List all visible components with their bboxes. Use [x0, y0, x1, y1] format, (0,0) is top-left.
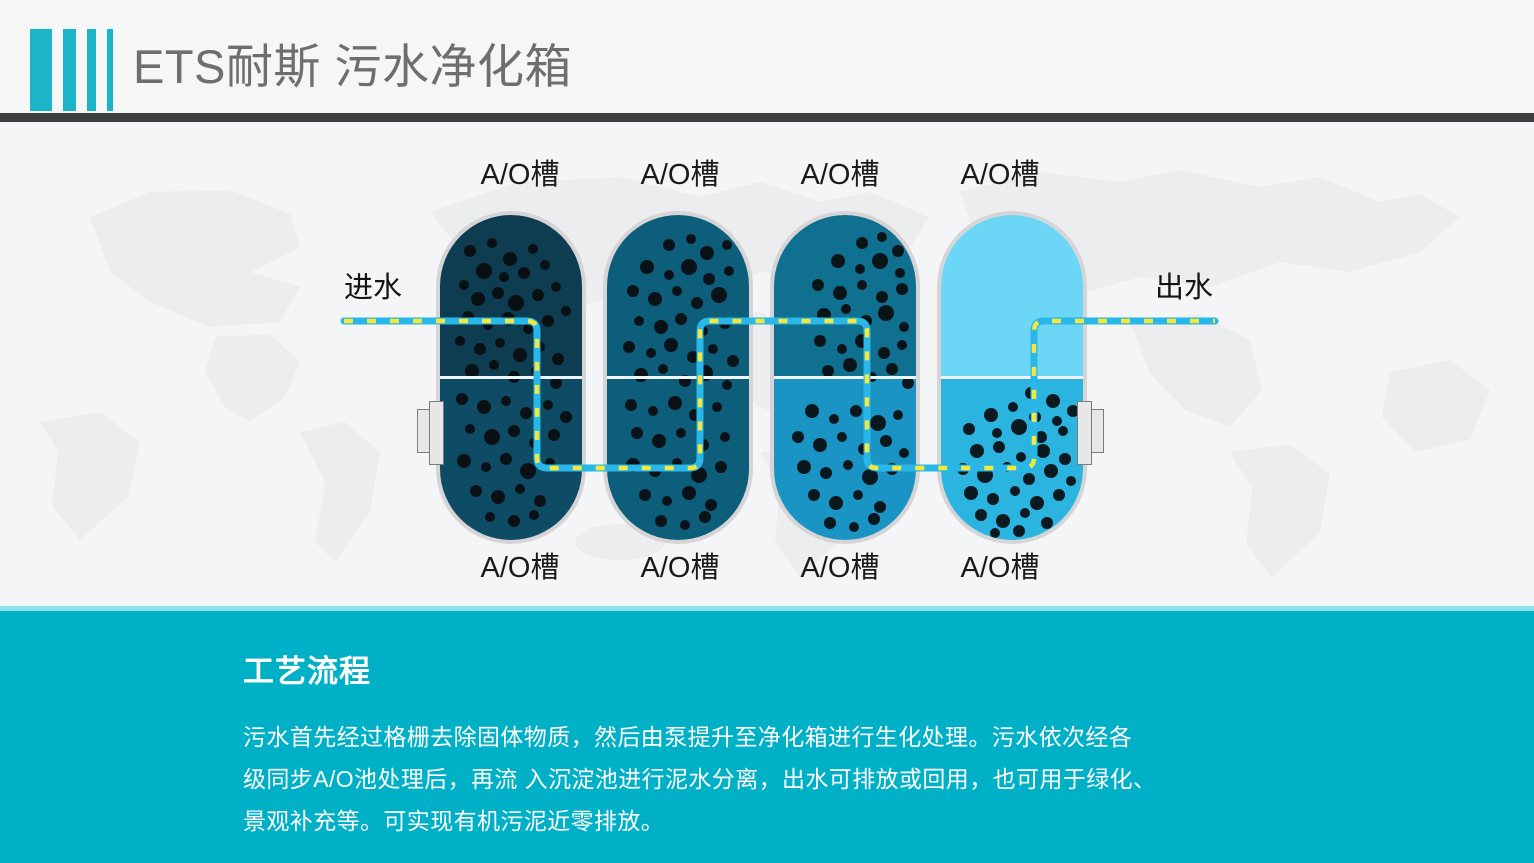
- accent-bar-4: [107, 29, 113, 111]
- tank-label-top-4: A/O槽: [920, 155, 1080, 195]
- outlet-flange-icon: [1073, 401, 1103, 463]
- footer-title: 工艺流程: [243, 650, 1293, 694]
- tank-2-divider: [607, 376, 749, 379]
- tank-4-divider: [941, 376, 1083, 379]
- slide-canvas: ETS耐斯 污水净化箱 A/O槽 A/O槽 A/O槽 A/O槽: [0, 0, 1534, 863]
- footer-content: 工艺流程 污水首先经过格栅去除固体物质，然后由泵提升至净化箱进行生化处理。污水依…: [243, 650, 1293, 842]
- tank-4: [941, 215, 1083, 540]
- footer-body-line-1: 污水首先经过格栅去除固体物质，然后由泵提升至净化箱进行生化处理。污水依次经各: [243, 716, 1293, 758]
- tank-labels-bottom: A/O槽 A/O槽 A/O槽 A/O槽: [440, 548, 1080, 588]
- tank-label-bottom-3: A/O槽: [760, 548, 920, 588]
- tank-label-bottom-4: A/O槽: [920, 548, 1080, 588]
- tank-2: [607, 215, 749, 540]
- process-description-panel: 工艺流程 污水首先经过格栅去除固体物质，然后由泵提升至净化箱进行生化处理。污水依…: [0, 606, 1534, 863]
- tank-1-divider: [440, 376, 582, 379]
- tank-label-top-2: A/O槽: [600, 155, 760, 195]
- accent-bar-3: [87, 29, 96, 111]
- tank-label-top-1: A/O槽: [440, 155, 600, 195]
- page-header: ETS耐斯 污水净化箱: [0, 0, 1534, 122]
- header-accent-bars: [30, 29, 124, 111]
- accent-bar-2: [63, 29, 76, 111]
- outlet-label: 出水: [1155, 270, 1213, 306]
- footer-body: 污水首先经过格栅去除固体物质，然后由泵提升至净化箱进行生化处理。污水依次经各 级…: [243, 716, 1293, 842]
- tank-3-divider: [774, 376, 916, 379]
- accent-bar-1: [30, 29, 52, 111]
- inlet-label: 进水: [344, 270, 402, 306]
- tank-label-bottom-1: A/O槽: [440, 548, 600, 588]
- tank-group: [440, 215, 1080, 540]
- tank-label-top-3: A/O槽: [760, 155, 920, 195]
- tank-labels-top: A/O槽 A/O槽 A/O槽 A/O槽: [440, 155, 1080, 195]
- inlet-flange-plate-inner: [429, 401, 444, 465]
- footer-body-line-3: 景观补充等。可实现有机污泥近零排放。: [243, 800, 1293, 842]
- footer-body-line-2: 级同步A/O池处理后，再流 入沉淀池进行泥水分离，出水可排放或回用，也可用于绿化…: [243, 758, 1293, 800]
- process-diagram: A/O槽 A/O槽 A/O槽 A/O槽: [0, 122, 1534, 606]
- outlet-flange-plate-inner: [1077, 401, 1092, 465]
- page-title: ETS耐斯 污水净化箱: [133, 36, 572, 98]
- tank-label-bottom-2: A/O槽: [600, 548, 760, 588]
- inlet-flange-icon: [417, 401, 447, 463]
- outlet-flange-plate-outer: [1091, 409, 1104, 453]
- tank-1: [440, 215, 582, 540]
- header-divider: [0, 113, 1534, 122]
- tank-3: [774, 215, 916, 540]
- footer-top-edge: [0, 606, 1534, 611]
